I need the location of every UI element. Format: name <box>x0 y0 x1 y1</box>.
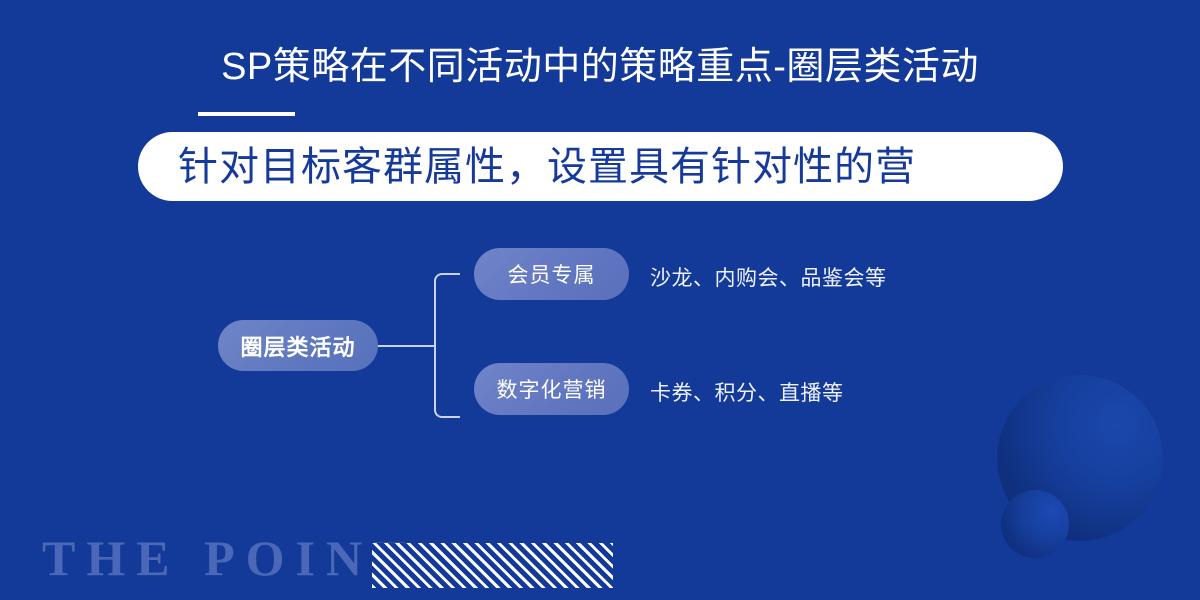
mindmap-branch-label-1: 数字化营销 <box>497 374 607 404</box>
mindmap-branch-node-0[interactable]: 会员专属 <box>474 248 629 300</box>
title-underline <box>198 112 295 116</box>
headline-banner: 针对目标客群属性，设置具有针对性的营 <box>138 132 1063 201</box>
mindmap-bracket-connector <box>434 273 460 418</box>
mindmap-branch-node-1[interactable]: 数字化营销 <box>474 363 629 415</box>
headline-banner-text: 针对目标客群属性，设置具有针对性的营 <box>178 143 916 191</box>
mindmap-branch-label-0: 会员专属 <box>508 259 596 289</box>
page-title: SP策略在不同活动中的策略重点-圈层类活动 <box>0 42 1200 92</box>
hatch-pattern-decoration <box>372 543 613 588</box>
slide-canvas: SP策略在不同活动中的策略重点-圈层类活动 针对目标客群属性，设置具有针对性的营… <box>0 0 1200 600</box>
brand-wordmark: THE POINT <box>42 528 417 588</box>
decorative-circle-small <box>1001 490 1069 558</box>
mindmap-branch-description-0: 沙龙、内购会、品鉴会等 <box>650 262 887 292</box>
mindmap-branch-description-1: 卡券、积分、直播等 <box>650 377 844 407</box>
mindmap-root-node[interactable]: 圈层类活动 <box>218 320 378 371</box>
mindmap-root-connector <box>378 345 434 347</box>
mindmap-root-label: 圈层类活动 <box>240 330 355 362</box>
